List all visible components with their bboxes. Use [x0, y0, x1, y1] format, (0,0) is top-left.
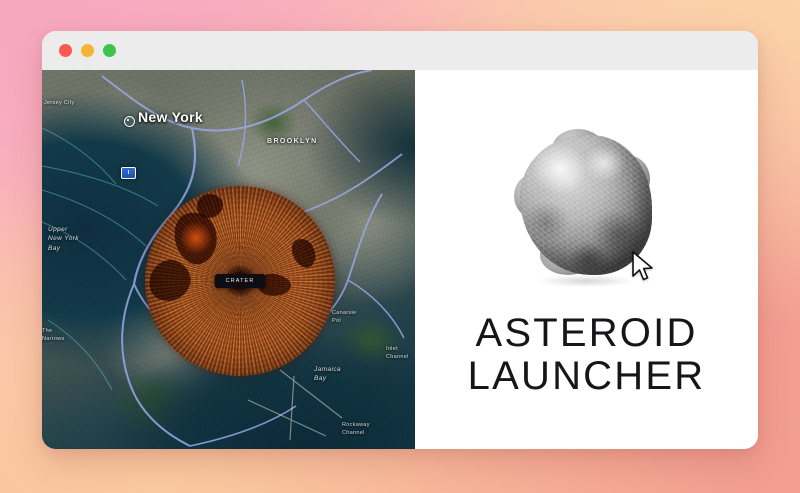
maximize-button[interactable]	[103, 44, 116, 57]
asteroid-drop-shadow	[538, 275, 634, 287]
asteroid-illustration[interactable]	[512, 129, 662, 289]
close-button[interactable]	[59, 44, 72, 57]
window-titlebar	[42, 31, 758, 70]
map-panel[interactable]: CRATER New York Jersey City BROOKLYN Upp…	[42, 70, 415, 449]
highway-shield-icon[interactable]: I	[121, 167, 136, 179]
title-line-launcher: Launcher	[468, 354, 706, 399]
page-background: CRATER New York Jersey City BROOKLYN Upp…	[0, 0, 800, 493]
title-line-asteroid: Asteroid	[468, 311, 706, 356]
browser-window: CRATER New York Jersey City BROOKLYN Upp…	[42, 31, 758, 449]
brand-panel: Asteroid Launcher	[415, 70, 758, 449]
city-marker-icon	[124, 116, 135, 127]
minimize-button[interactable]	[81, 44, 94, 57]
page-title: Asteroid Launcher	[468, 311, 706, 399]
window-content: CRATER New York Jersey City BROOKLYN Upp…	[42, 70, 758, 449]
crater-overlay[interactable]: CRATER	[145, 186, 335, 376]
crater-label: CRATER	[215, 274, 266, 288]
mouse-cursor-icon	[630, 251, 656, 283]
